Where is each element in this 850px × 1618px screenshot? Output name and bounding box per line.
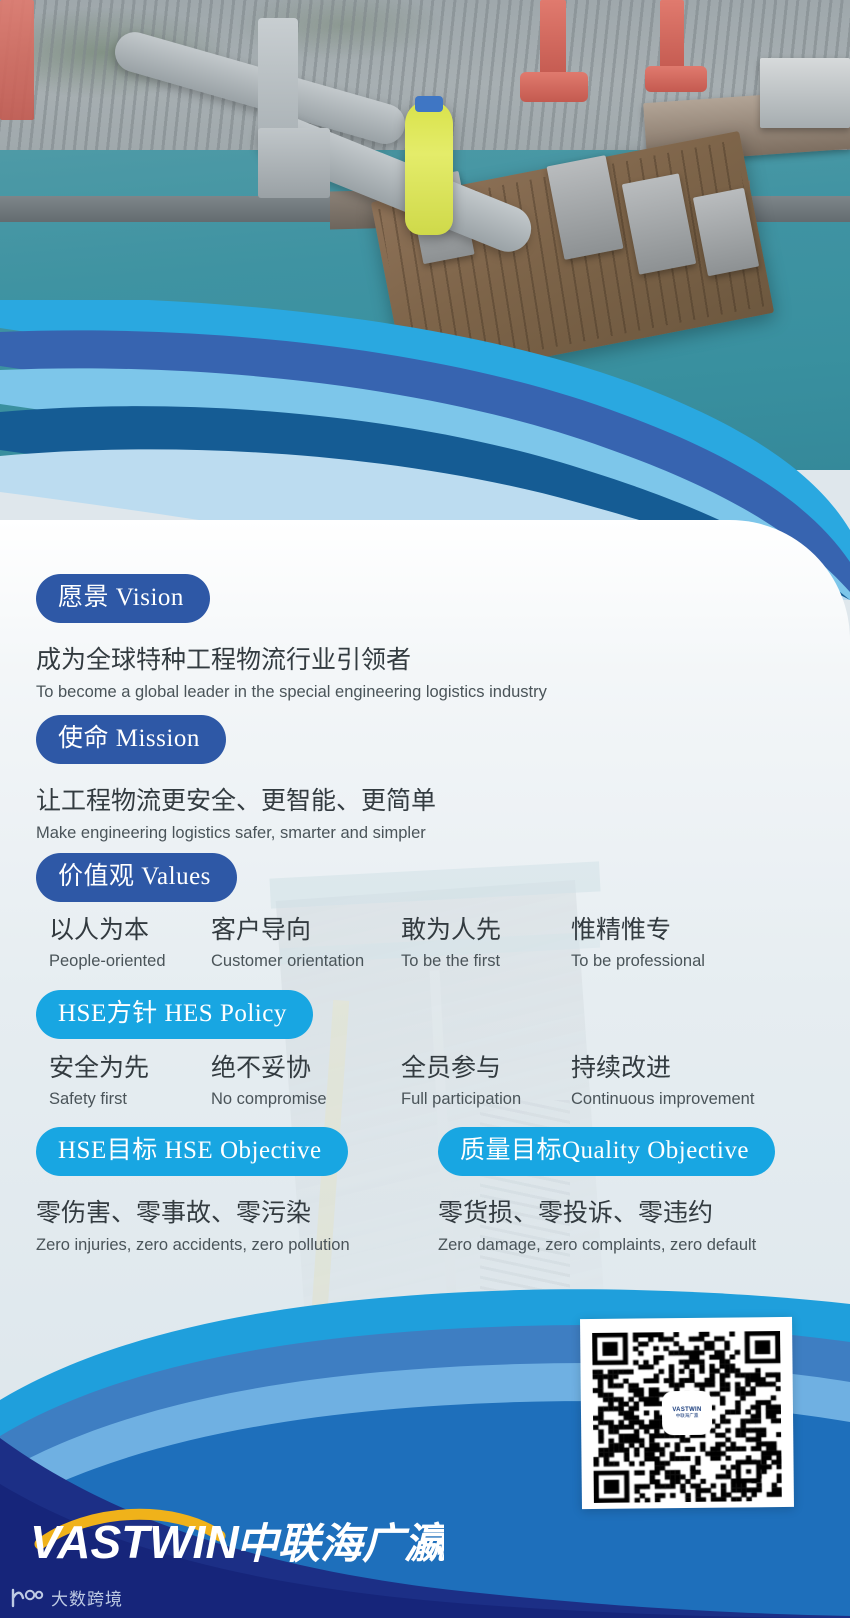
section-mission: 使命 Mission 让工程物流更安全、更智能、更简单 Make enginee… bbox=[36, 715, 436, 845]
hse-policy-item-2: 绝不妥协 No compromise bbox=[211, 1053, 327, 1111]
photo-crane-left bbox=[540, 0, 566, 78]
values-item-2-en: Customer orientation bbox=[211, 951, 364, 972]
quality-objective-cn-text: 零货损、零投诉、零违约 bbox=[438, 1198, 775, 1229]
photo-crane-right-base bbox=[645, 66, 707, 92]
section-quality-objective: 质量目标Quality Objective 零货损、零投诉、零违约 Zero d… bbox=[438, 1127, 775, 1257]
logo-cn-text: 中联海广瀛 bbox=[236, 1521, 444, 1568]
company-logo: VASTWIN 中联海广瀛 bbox=[24, 1500, 444, 1570]
qr-code-card[interactable]: VASTWIN 中联海广瀛 bbox=[580, 1317, 794, 1509]
values-item-1-cn: 以人为本 bbox=[49, 915, 166, 946]
logo-latin-text: VASTWIN bbox=[30, 1516, 239, 1568]
section-vision: 愿景 Vision 成为全球特种工程物流行业引领者 To become a gl… bbox=[36, 574, 547, 704]
hse-policy-item-3: 全员参与 Full participation bbox=[401, 1053, 521, 1111]
values-item-1-en: People-oriented bbox=[49, 951, 166, 972]
photo-crane-far-left bbox=[0, 0, 34, 120]
mission-en-text: Make engineering logistics safer, smarte… bbox=[36, 823, 436, 844]
hse-policy-item-1-en: Safety first bbox=[49, 1089, 149, 1110]
values-item-2: 客户导向 Customer orientation bbox=[211, 915, 364, 973]
hse-policy-item-4: 持续改进 Continuous improvement bbox=[571, 1053, 754, 1111]
hse-policy-item-3-en: Full participation bbox=[401, 1089, 521, 1110]
values-item-1: 以人为本 People-oriented bbox=[49, 915, 166, 973]
hse-objective-en-text: Zero injuries, zero accidents, zero poll… bbox=[36, 1235, 350, 1256]
photo-nacelle bbox=[405, 100, 453, 235]
hse-policy-item-2-en: No compromise bbox=[211, 1089, 327, 1110]
values-item-3: 敢为人先 To be the first bbox=[401, 915, 501, 973]
values-item-4-en: To be professional bbox=[571, 951, 705, 972]
photo-crane-left-base bbox=[520, 72, 588, 102]
badge-hse-objective: HSE目标 HSE Objective bbox=[36, 1127, 348, 1176]
values-item-4: 惟精惟专 To be professional bbox=[571, 915, 705, 973]
values-item-3-en: To be the first bbox=[401, 951, 501, 972]
qr-center-logo: VASTWIN 中联海广瀛 bbox=[664, 1393, 710, 1433]
values-item-3-cn: 敢为人先 bbox=[401, 915, 501, 946]
hse-policy-item-1: 安全为先 Safety first bbox=[49, 1053, 149, 1111]
badge-hse-policy: HSE方针 HES Policy bbox=[36, 990, 313, 1039]
hse-policy-item-row: 安全为先 Safety first 绝不妥协 No compromise 全员参… bbox=[36, 1053, 826, 1128]
hse-policy-item-4-en: Continuous improvement bbox=[571, 1089, 754, 1110]
hse-policy-item-1-cn: 安全为先 bbox=[49, 1053, 149, 1084]
watermark-text: 大数跨境 bbox=[51, 1585, 123, 1610]
hse-policy-item-3-cn: 全员参与 bbox=[401, 1053, 521, 1084]
photo-vessel-far-right bbox=[760, 58, 850, 128]
photo-crane-right bbox=[660, 0, 684, 72]
watermark-icon bbox=[8, 1587, 44, 1609]
vision-en-text: To become a global leader in the special… bbox=[36, 682, 547, 703]
badge-vision: 愿景 Vision bbox=[36, 574, 210, 623]
hse-policy-item-4-cn: 持续改进 bbox=[571, 1053, 754, 1084]
section-values: 价值观 Values bbox=[36, 853, 237, 902]
section-hse-objective: HSE目标 HSE Objective 零伤害、零事故、零污染 Zero inj… bbox=[36, 1127, 350, 1257]
qr-center-line2: 中联海广瀛 bbox=[676, 1413, 699, 1419]
mission-cn-text: 让工程物流更安全、更智能、更简单 bbox=[36, 786, 436, 817]
photo-nacelle-cap bbox=[415, 96, 443, 112]
values-item-row: 以人为本 People-oriented 客户导向 Customer orien… bbox=[36, 915, 826, 990]
quality-objective-en-text: Zero damage, zero complaints, zero defau… bbox=[438, 1235, 775, 1256]
section-hse-policy: HSE方针 HES Policy bbox=[36, 990, 313, 1039]
poster-root: 愿景 Vision 成为全球特种工程物流行业引领者 To become a gl… bbox=[0, 0, 850, 1618]
watermark: 大数跨境 bbox=[8, 1585, 123, 1610]
vision-cn-text: 成为全球特种工程物流行业引领者 bbox=[36, 645, 547, 676]
badge-quality-objective: 质量目标Quality Objective bbox=[438, 1127, 775, 1176]
photo-tower-base bbox=[258, 128, 330, 198]
values-item-4-cn: 惟精惟专 bbox=[571, 915, 705, 946]
badge-mission: 使命 Mission bbox=[36, 715, 226, 764]
values-item-2-cn: 客户导向 bbox=[211, 915, 364, 946]
badge-values: 价值观 Values bbox=[36, 853, 237, 902]
hse-policy-item-2-cn: 绝不妥协 bbox=[211, 1053, 327, 1084]
hse-objective-cn-text: 零伤害、零事故、零污染 bbox=[36, 1198, 350, 1229]
